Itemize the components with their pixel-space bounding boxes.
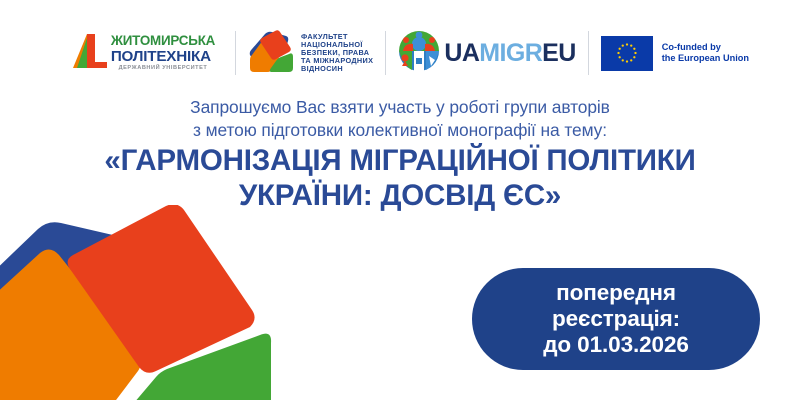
uamigreu-circle-icon [398,30,440,77]
monograph-title-line-1: «ГАРМОНІЗАЦІЯ МІГРАЦІЙНОЇ ПОЛІТИКИ [0,144,800,179]
eu-funding-text: Co-funded by the European Union [662,42,749,65]
uamigreu-part-migr: MIGR [479,39,542,67]
invitation-line-1: Запрошуємо Вас взяти участь у роботі гру… [0,96,800,119]
cube-panel-green [125,334,271,400]
uamigreu-part-eu: EU [542,39,576,67]
cube-panel-orange [0,249,141,400]
logo-uamigreu[interactable]: UAMIGREU [398,22,575,84]
zp-line-2: ПОЛІТЕХНІКА [111,49,215,64]
registration-badge-text: попередня реєстрація: до 01.03.2026 [543,280,689,359]
registration-line-3: до 01.03.2026 [543,332,689,358]
faculty-cube-icon [248,29,294,78]
zp-line-3: ДЕРЖАВНИЙ УНІВЕРСИТЕТ [111,66,215,72]
logo-row: ЖИТОМИРСЬКА ПОЛІТЕХНІКА ДЕРЖАВНИЙ УНІВЕР… [0,22,800,84]
eu-line-1: Co-funded by [662,42,749,54]
logo-european-union[interactable]: Co-funded by the European Union [601,22,749,84]
faculty-wordmark: ФАКУЛЬТЕТ НАЦІОНАЛЬНОЇ БЕЗПЕКИ, ПРАВА ТА… [301,33,373,74]
zp-line-1: ЖИТОМИРСЬКА [111,34,215,47]
poster-canvas: ЖИТОМИРСЬКА ПОЛІТЕХНІКА ДЕРЖАВНИЙ УНІВЕР… [0,0,800,400]
decorative-cube-svg [0,205,300,400]
faculty-line-5: ВІДНОСИН [301,65,373,73]
uamigreu-wordmark: UAMIGREU [444,41,575,66]
decorative-cube-graphic [0,205,300,400]
eu-line-2: the European Union [662,53,749,65]
uamigreu-part-ua: UA [444,39,479,67]
logo-divider-1 [235,31,236,75]
zhytomyr-polytechnic-wordmark: ЖИТОМИРСЬКА ПОЛІТЕХНІКА ДЕРЖАВНИЙ УНІВЕР… [111,34,215,71]
registration-line-1: попередня [543,280,689,306]
logo-faculty[interactable]: ФАКУЛЬТЕТ НАЦІОНАЛЬНОЇ БЕЗПЕКИ, ПРАВА ТА… [248,22,373,84]
eu-flag-icon [601,36,653,71]
monograph-title: «ГАРМОНІЗАЦІЯ МІГРАЦІЙНОЇ ПОЛІТИКИ УКРАЇ… [0,144,800,214]
logo-zhytomyr-polytechnic[interactable]: ЖИТОМИРСЬКА ПОЛІТЕХНІКА ДЕРЖАВНИЙ УНІВЕР… [51,22,223,84]
registration-badge[interactable]: попередня реєстрація: до 01.03.2026 [472,268,760,370]
cube-panel-red [68,205,255,373]
logo-divider-2 [385,31,386,75]
zhytomyr-polytechnic-mark-icon [73,32,107,75]
monograph-title-line-2: УКРАЇНИ: ДОСВІД ЄС» [0,179,800,214]
registration-line-2: реєстрація: [543,306,689,332]
cube-panel-blue [0,222,174,363]
logo-divider-3 [588,31,589,75]
invitation-text: Запрошуємо Вас взяти участь у роботі гру… [0,96,800,142]
invitation-line-2: з метою підготовки колективної монографі… [0,119,800,142]
